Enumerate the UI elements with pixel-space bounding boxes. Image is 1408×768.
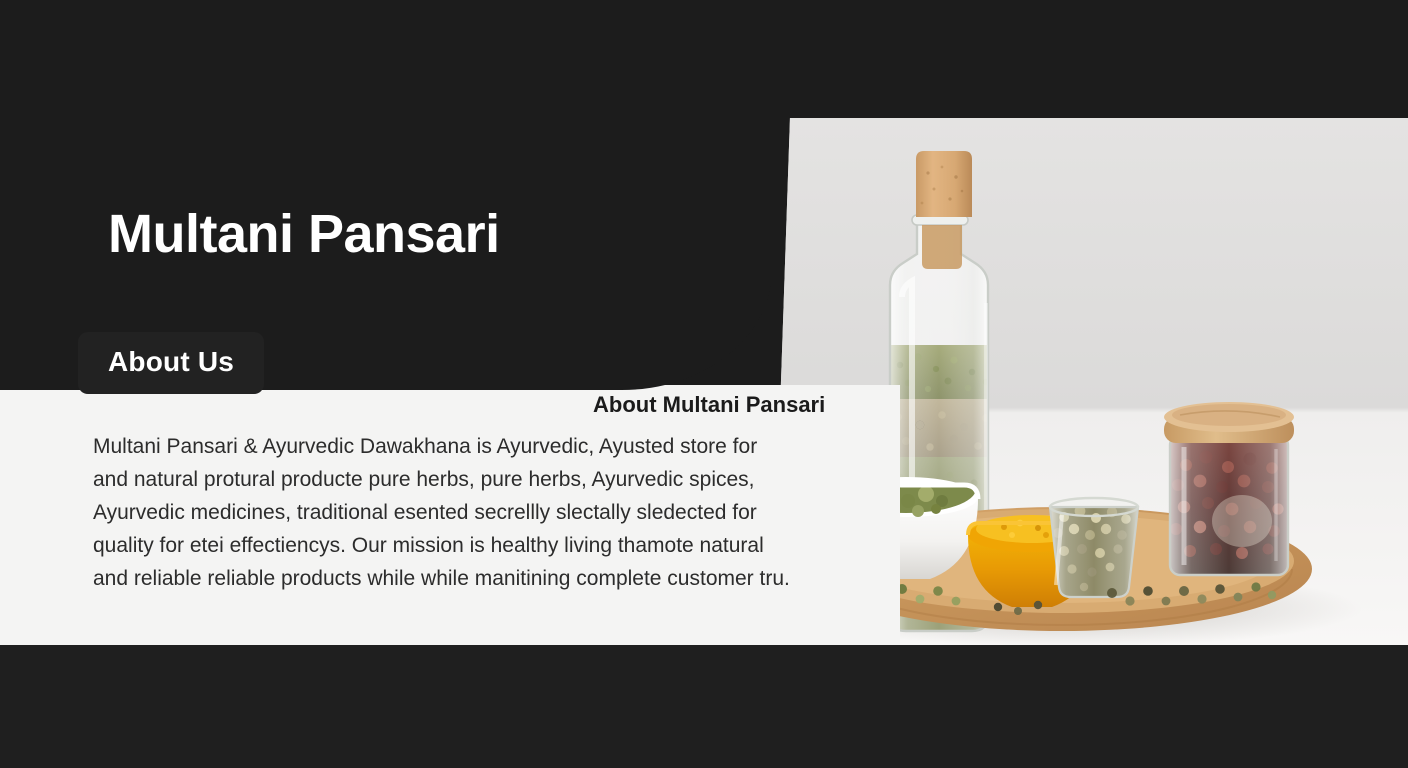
about-paragraph: Multani Pansari & Ayurvedic Dawakhana is… [93, 430, 923, 595]
about-us-badge: About Us [78, 332, 264, 394]
glass-cup-seeds [1046, 498, 1144, 603]
paragraph-line: and reliable reliable products while whi… [93, 562, 923, 595]
paragraph-line: and natural protural producte pure herbs… [93, 463, 923, 496]
paragraph-line: Multani Pansari & Ayurvedic Dawakhana is… [93, 430, 923, 463]
glass-jar-wooden-lid [1164, 402, 1294, 579]
brand-title: Multani Pansari [108, 205, 500, 264]
bottom-dark-bar [0, 645, 1408, 768]
paragraph-line: quality for etei effectiencys. Our missi… [93, 529, 923, 562]
about-us-banner: Multani Pansari About Us About Multani P… [0, 0, 1408, 768]
section-heading: About Multani Pansari [593, 392, 825, 418]
paragraph-line: Ayurvedic medicines, traditional esented… [93, 496, 923, 529]
